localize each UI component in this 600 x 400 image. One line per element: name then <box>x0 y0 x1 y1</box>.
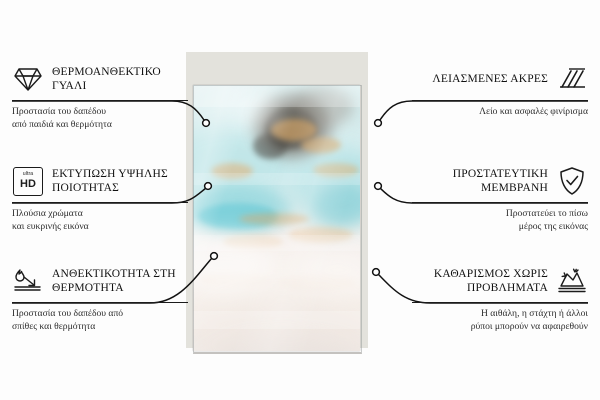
feature-header: ultra HD ΕΚΤΥΠΩΣΗ ΥΨΗΛΗΣ ΠΟΙΟΤΗΤΑΣ <box>12 164 188 198</box>
divider <box>412 202 588 203</box>
feature-header: ΚΑΘΑΡΙΣΜΟΣ ΧΩΡΙΣ ΠΡΟΒΛΗΜΑΤΑ <box>412 264 588 298</box>
feature-header: ΘΕΡΜΟΑΝΘΕΚΤΙΚΟ ΓΥΑΛΙ <box>12 62 188 96</box>
feature-title: ΕΚΤΥΠΩΣΗ ΥΨΗΛΗΣ ΠΟΙΟΤΗΤΑΣ <box>52 167 188 195</box>
ultra-hd-icon: ultra HD <box>12 166 44 196</box>
feature-high-quality-print: ultra HD ΕΚΤΥΠΩΣΗ ΥΨΗΛΗΣ ΠΟΙΟΤΗΤΑΣ Πλούσ… <box>12 164 188 234</box>
product-panel-stage <box>186 52 368 348</box>
feature-heat-resistant-glass: ΘΕΡΜΟΑΝΘΕΚΤΙΚΟ ΓΥΑΛΙ Προστασία του δαπέδ… <box>12 62 188 132</box>
feature-description: Λείο και ασφαλές φινίρισμα <box>412 106 588 119</box>
divider <box>12 302 188 303</box>
feature-description: Η αιθάλη, η στάχτη ή άλλοι ρύποι μπορούν… <box>412 308 588 334</box>
polished-edges-icon <box>556 64 588 94</box>
feature-title: ΚΑΘΑΡΙΣΜΟΣ ΧΩΡΙΣ ΠΡΟΒΛΗΜΑΤΑ <box>412 267 548 295</box>
feature-easy-cleaning: ΚΑΘΑΡΙΣΜΟΣ ΧΩΡΙΣ ΠΡΟΒΛΗΜΑΤΑ Η αιθάλη, η … <box>412 264 588 334</box>
feature-description: Προστασία του δαπέδου από παιδιά και θερ… <box>12 106 188 132</box>
ultra-hd-main-label: HD <box>20 179 36 190</box>
feature-description: Πλούσια χρώματα και ευκρινής εικόνα <box>12 208 188 234</box>
feature-title: ΑΝΘΕΚΤΙΚΟΤΗΤΑ ΣΤΗ ΘΕΡΜΟΤΗΤΑ <box>52 267 188 295</box>
divider <box>12 202 188 203</box>
diamond-icon <box>12 64 44 94</box>
feature-polished-edges: ΛΕΙΑΣΜΕΝΕΣ ΑΚΡΕΣ Λείο και ασφαλές φινίρι… <box>412 62 588 119</box>
feature-title: ΛΕΙΑΣΜΕΝΕΣ ΑΚΡΕΣ <box>432 72 548 86</box>
feature-header: ΠΡΟΣΤΑΤΕΥΤΙΚΗ ΜΕΜΒΡΑΝΗ <box>412 164 588 198</box>
feature-title: ΘΕΡΜΟΑΝΘΕΚΤΙΚΟ ΓΥΑΛΙ <box>52 65 188 93</box>
shield-check-icon <box>556 166 588 196</box>
feature-description: Προστατεύει το πίσω μέρος της εικόνας <box>412 208 588 234</box>
feature-header: ΛΕΙΑΣΜΕΝΕΣ ΑΚΡΕΣ <box>412 62 588 96</box>
feature-protective-film: ΠΡΟΣΤΑΤΕΥΤΙΚΗ ΜΕΜΒΡΑΝΗ Προστατεύει το πί… <box>412 164 588 234</box>
flame-deflect-icon <box>12 266 44 296</box>
glass-panel-edge <box>193 85 362 354</box>
easy-clean-icon <box>556 266 588 296</box>
product-feature-infographic: ΘΕΡΜΟΑΝΘΕΚΤΙΚΟ ΓΥΑΛΙ Προστασία του δαπέδ… <box>0 0 600 400</box>
feature-heat-durability: ΑΝΘΕΚΤΙΚΟΤΗΤΑ ΣΤΗ ΘΕΡΜΟΤΗΤΑ Προστασία το… <box>12 264 188 334</box>
divider <box>412 100 588 101</box>
ultra-hd-small-label: ultra <box>23 172 34 177</box>
divider <box>12 100 188 101</box>
divider <box>412 302 588 303</box>
feature-header: ΑΝΘΕΚΤΙΚΟΤΗΤΑ ΣΤΗ ΘΕΡΜΟΤΗΤΑ <box>12 264 188 298</box>
feature-title: ΠΡΟΣΤΑΤΕΥΤΙΚΗ ΜΕΜΒΡΑΝΗ <box>412 167 548 195</box>
feature-description: Προστασία του δαπέδου από σπίθες και θερ… <box>12 308 188 334</box>
